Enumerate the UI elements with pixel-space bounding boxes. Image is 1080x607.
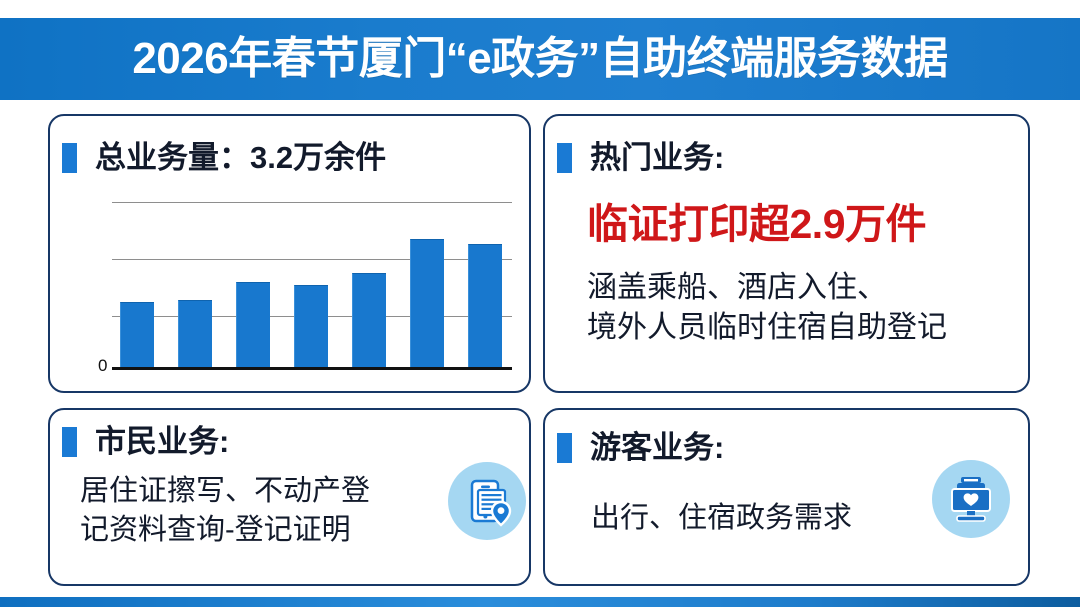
bar-chart: 0 <box>102 198 512 376</box>
chart-bar <box>178 300 212 367</box>
chart-plot-area: 0 <box>112 198 512 370</box>
card-header-popular-service: 热门业务: <box>557 142 724 173</box>
citizen-service-body-line-2: 记资料查询-登记证明 <box>80 511 430 550</box>
bottom-decorative-strip <box>0 597 1080 607</box>
square-bullet-icon <box>62 427 77 457</box>
card-title-citizen-service: 市民业务: <box>95 426 229 457</box>
square-bullet-icon <box>62 143 77 173</box>
card-title-popular-service: 热门业务: <box>590 142 724 173</box>
card-title-tourist-service: 游客业务: <box>590 432 724 463</box>
card-header-total-volume: 总业务量：3.2万余件 <box>62 142 386 173</box>
chart-bar <box>352 273 386 367</box>
square-bullet-icon <box>557 433 572 463</box>
chart-bar <box>236 282 270 367</box>
title-banner: 2026年春节厦门“e政务”自助终端服务数据 <box>0 18 1080 100</box>
tourist-service-body: 出行、住宿政务需求 <box>591 500 852 538</box>
popular-service-highlight: 临证打印超2.9万件 <box>587 204 926 245</box>
card-tourist-service: 游客业务: 出行、住宿政务需求 <box>543 408 1030 586</box>
card-citizen-service: 市民业务: 居住证擦写、不动产登 记资料查询-登记证明 <box>48 408 531 586</box>
card-header-citizen-service: 市民业务: <box>62 426 229 457</box>
chart-zero-tick-label: 0 <box>98 357 107 374</box>
mobile-document-location-icon <box>448 462 526 540</box>
chart-x-axis <box>112 367 512 370</box>
chart-bar <box>410 239 444 367</box>
chart-bar <box>468 244 502 367</box>
citizen-service-body: 居住证擦写、不动产登 记资料查询-登记证明 <box>80 472 430 550</box>
popular-service-body-line-1: 涵盖乘船、酒店入住、 <box>587 268 947 308</box>
card-total-volume: 总业务量：3.2万余件 0 <box>48 114 531 393</box>
popular-service-body-line-2: 境外人员临时住宿自助登记 <box>587 308 947 348</box>
chart-bar <box>120 302 154 367</box>
page-title: 2026年春节厦门“e政务”自助终端服务数据 <box>132 37 947 81</box>
card-header-tourist-service: 游客业务: <box>557 432 724 463</box>
infographic-page: 2026年春节厦门“e政务”自助终端服务数据 总业务量：3.2万余件 <box>0 0 1080 607</box>
popular-service-body: 涵盖乘船、酒店入住、 境外人员临时住宿自助登记 <box>587 268 947 347</box>
chart-bars <box>112 198 512 367</box>
chart-bar <box>294 285 328 367</box>
card-title-total-volume: 总业务量：3.2万余件 <box>95 142 386 173</box>
card-popular-service: 热门业务: 临证打印超2.9万件 涵盖乘船、酒店入住、 境外人员临时住宿自助登记 <box>543 114 1030 393</box>
citizen-service-body-line-1: 居住证擦写、不动产登 <box>80 472 430 511</box>
desktop-monitor-heart-icon <box>932 460 1010 538</box>
square-bullet-icon <box>557 143 572 173</box>
